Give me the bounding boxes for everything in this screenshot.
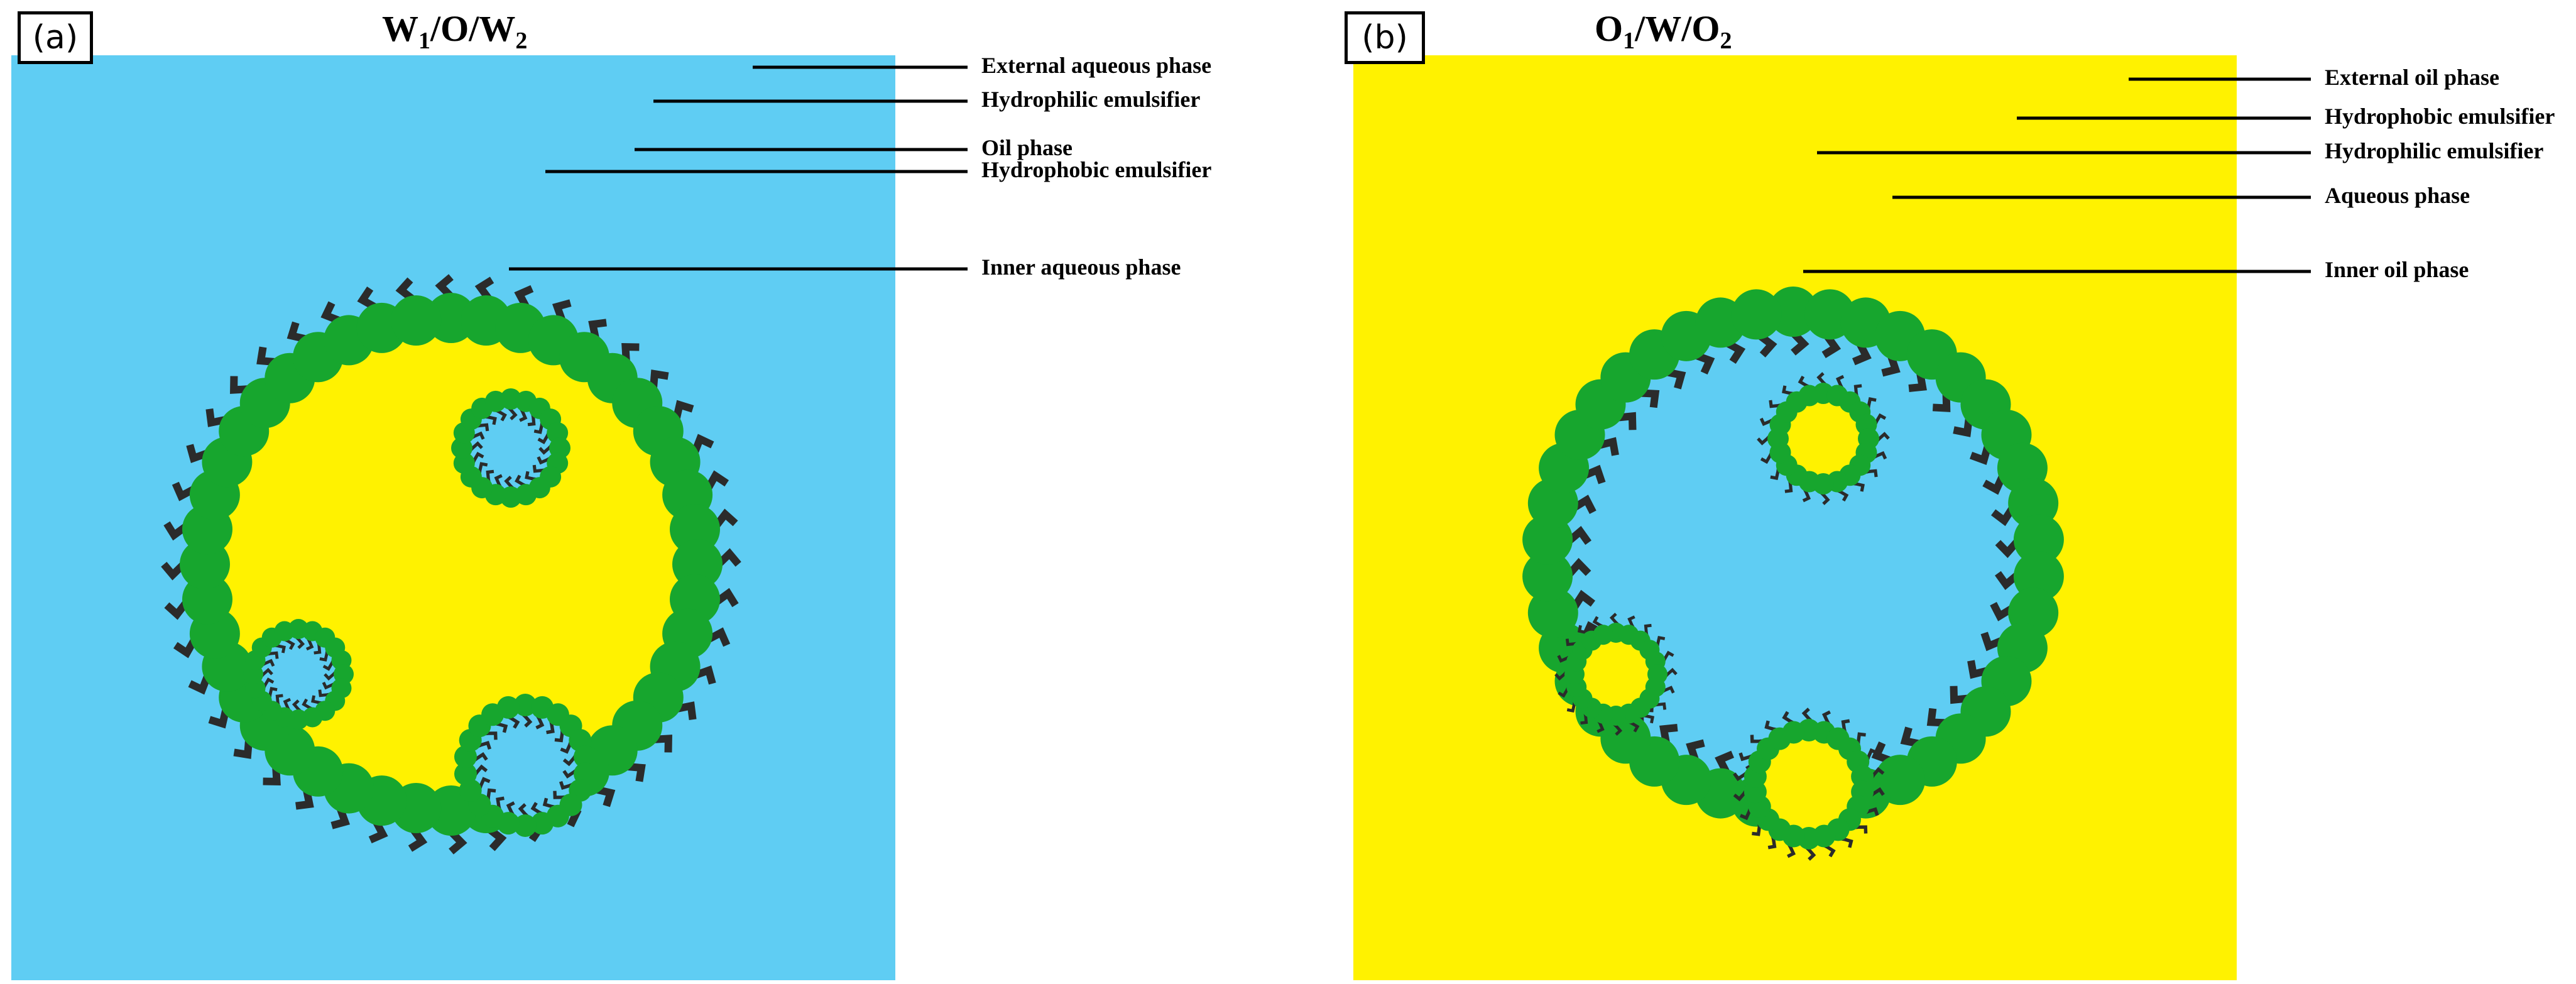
annotation-label: Inner oil phase — [2325, 256, 2469, 283]
panel-b-title-sub0: 1 — [1623, 28, 1635, 54]
emulsion-drawing — [1353, 55, 2237, 980]
annotation-label: Aqueous phase — [2325, 182, 2470, 209]
panel-a-title-sub0: 1 — [418, 28, 430, 54]
panel-b-label: (b) — [1345, 11, 1425, 64]
emulsifier-head — [1782, 721, 1805, 743]
panel-a-title-sub1: 2 — [515, 28, 527, 54]
panel-b-title: O1/W/O2 — [1595, 8, 1732, 50]
annotation-label: Hydrophilic emulsifier — [2325, 138, 2543, 164]
emulsifier-head — [391, 295, 441, 346]
emulsifier-head — [1799, 385, 1820, 407]
panel-a-scene — [11, 55, 895, 980]
panel-b-title-p1: /W/O — [1635, 8, 1720, 49]
panel-a: (a) W1/O/W2 — [0, 0, 1288, 984]
panel-b-title-sub1: 2 — [1720, 28, 1732, 54]
panel-a-title-p0: W — [382, 8, 418, 49]
annotation-label: Hydrophilic emulsifier — [981, 86, 1200, 112]
panel-a-label-text: (a) — [33, 19, 78, 57]
panel-b-title-p0: O — [1595, 8, 1623, 49]
panel-b-scene — [1353, 55, 2237, 980]
annotation-label: External aqueous phase — [981, 52, 1211, 79]
emulsifier-head — [497, 696, 520, 719]
emulsifier-head — [1593, 625, 1613, 645]
panel-a-label: (a) — [18, 11, 93, 64]
annotation-label: Inner aqueous phase — [981, 254, 1181, 280]
panel-a-title: W1/O/W2 — [382, 8, 527, 50]
panel-b-label-text: (b) — [1362, 19, 1408, 57]
panel-a-title-p1: /O/W — [430, 8, 515, 49]
emulsion-drawing — [11, 55, 895, 980]
emulsifier-head — [275, 621, 295, 642]
annotation-label: Hydrophobic emulsifier — [981, 156, 1211, 183]
emulsifier-head — [485, 391, 506, 412]
annotation-label: Hydrophobic emulsifier — [2325, 103, 2555, 129]
emulsifier-head — [1732, 289, 1782, 339]
annotation-label: External oil phase — [2325, 64, 2499, 90]
